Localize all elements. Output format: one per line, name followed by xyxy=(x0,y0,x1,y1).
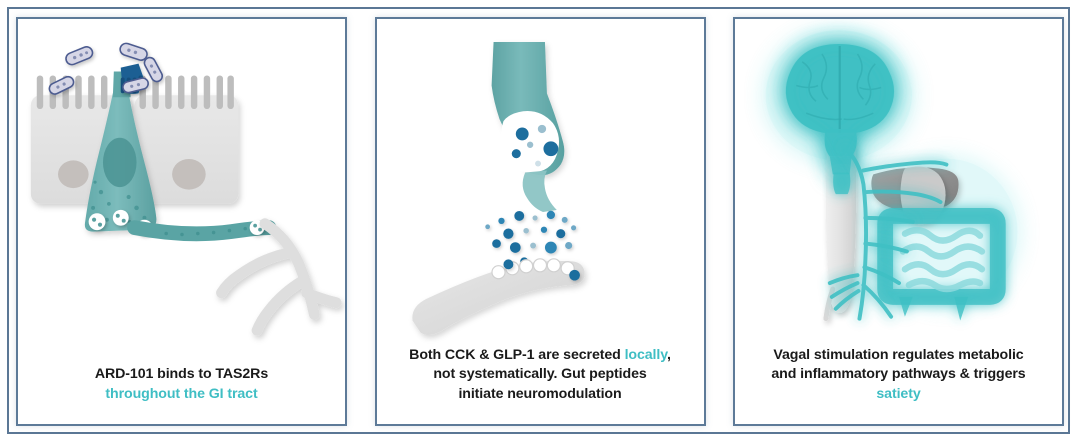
panel-1-caption-line-1: ARD-101 binds to TAS2Rs xyxy=(28,365,335,384)
gut-brain-vagal-axis-illustration xyxy=(735,19,1062,346)
panel-1-caption: ARD-101 binds to TAS2Rs throughout the G… xyxy=(18,365,345,424)
brainstem xyxy=(833,172,850,194)
panel-3-caption-line-2: and inflammatory pathways & triggers xyxy=(745,365,1052,384)
panel-2-caption-line-2: not systematically. Gut peptides xyxy=(387,365,694,384)
panel-1: ARD-101 binds to TAS2Rs throughout the G… xyxy=(16,17,347,426)
secreted-peptide-granules xyxy=(485,211,576,266)
panel-2: Both CCK & GLP-1 are secreted locally, n… xyxy=(375,17,706,426)
panel-3: Vagal stimulation regulates metabolic an… xyxy=(733,17,1064,426)
panel-2-caption: Both CCK & GLP-1 are secreted locally, n… xyxy=(377,346,704,424)
panel-2-caption-seg-1: Both CCK & GLP-1 are secreted xyxy=(409,347,624,363)
tuft-cell-nucleus xyxy=(103,138,137,187)
cell-neck xyxy=(522,170,556,211)
brain xyxy=(786,44,894,174)
panel-3-caption-line-1: Vagal stimulation regulates metabolic xyxy=(745,346,1052,365)
panel-2-caption-seg-locally: locally xyxy=(625,347,667,363)
enteroendocrine-cell-synapse-illustration xyxy=(377,19,704,346)
panel-2-caption-seg-3: , xyxy=(667,347,671,363)
panel-3-caption: Vagal stimulation regulates metabolic an… xyxy=(735,346,1062,424)
panel-1-caption-line-2: throughout the GI tract xyxy=(28,385,335,404)
panel-3-caption-line-3: satiety xyxy=(745,385,1052,404)
panel-2-caption-line-3: initiate neuromodulation xyxy=(387,385,694,404)
gray-nerve-branches xyxy=(222,224,337,331)
tuft-cell-epithelium-illustration xyxy=(18,19,345,365)
panel-2-caption-line-1: Both CCK & GLP-1 are secreted locally, xyxy=(387,346,694,365)
panel-row: ARD-101 binds to TAS2Rs throughout the G… xyxy=(0,0,1080,443)
